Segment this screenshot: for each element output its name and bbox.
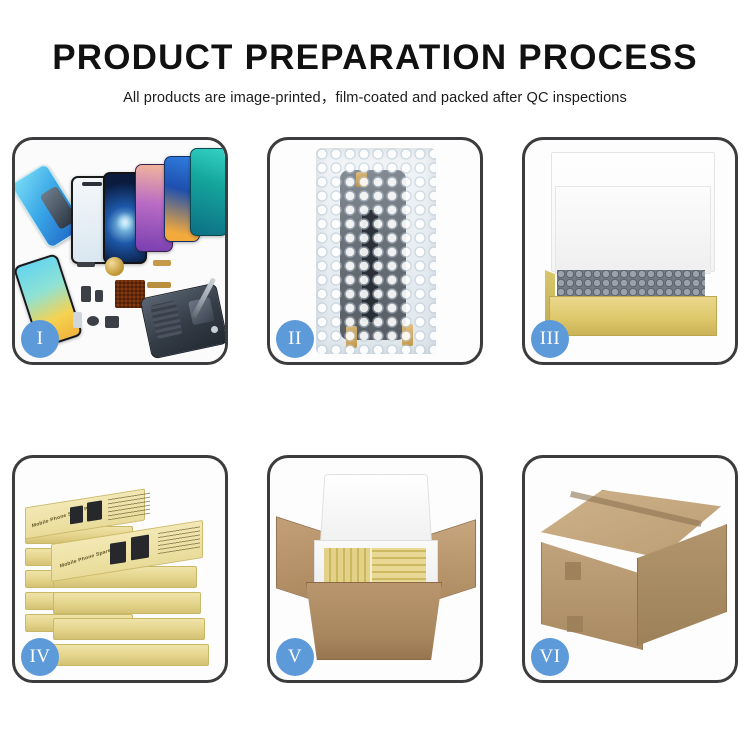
flex-cable-part-icon bbox=[77, 262, 95, 267]
sim-tray-part-icon bbox=[73, 312, 82, 328]
small-component-icon bbox=[95, 290, 103, 302]
step-badge-1: I bbox=[21, 320, 59, 358]
camera-module-part-icon bbox=[87, 316, 99, 326]
box-print-phone-icon bbox=[110, 541, 126, 565]
page-subtitle: All products are image-printed，film-coat… bbox=[0, 86, 750, 107]
small-component-icon bbox=[81, 286, 91, 302]
stacked-box bbox=[53, 644, 209, 666]
box-print-specs bbox=[158, 525, 200, 554]
box-print-phone-icon bbox=[87, 500, 102, 521]
box-print-phone-icon bbox=[70, 505, 83, 524]
white-foam-sheet-icon bbox=[555, 186, 711, 274]
speaker-coil-part-icon bbox=[105, 257, 124, 276]
ribbon-cable-part-icon bbox=[147, 282, 171, 288]
carton-body-icon bbox=[306, 582, 442, 660]
box-print-phone-icon bbox=[131, 535, 149, 561]
step-badge-3: III bbox=[531, 320, 569, 358]
bubble-padding-icon bbox=[557, 270, 705, 298]
kraft-box-front-icon bbox=[549, 296, 717, 336]
stacked-box bbox=[53, 592, 201, 614]
carton-tape-icon bbox=[565, 562, 581, 580]
step-panel-3: III bbox=[522, 137, 738, 365]
step-badge-4: IV bbox=[21, 638, 59, 676]
step-badge-2: II bbox=[276, 320, 314, 358]
header: PRODUCT PREPARATION PROCESS All products… bbox=[0, 0, 750, 107]
bubble-texture bbox=[316, 148, 436, 354]
step-panel-4: Mobile Phone Spare Parts Mobile Phone Sp… bbox=[12, 455, 228, 683]
box-print-specs bbox=[108, 492, 150, 521]
phone-screen-teal-icon bbox=[190, 148, 225, 236]
step-panel-1: I bbox=[12, 137, 228, 365]
step-badge-5: V bbox=[276, 638, 314, 676]
step-panel-6: VI bbox=[522, 455, 738, 683]
carton-left-face-icon bbox=[541, 542, 643, 650]
stacked-box bbox=[53, 618, 205, 640]
vibrator-part-icon bbox=[105, 316, 119, 328]
step-panel-5: V bbox=[267, 455, 483, 683]
page-title: PRODUCT PREPARATION PROCESS bbox=[0, 40, 750, 77]
box-stack: Mobile Phone Spare Parts Mobile Phone Sp… bbox=[23, 480, 223, 666]
step-badge-6: VI bbox=[531, 638, 569, 676]
gold-connector-part-icon bbox=[153, 260, 171, 266]
step-panel-2: II bbox=[267, 137, 483, 365]
carton-tape-icon bbox=[567, 616, 583, 632]
bubble-wrap-bag-icon bbox=[316, 148, 436, 354]
process-steps-grid: I II III bbox=[12, 137, 738, 683]
screw-icon bbox=[211, 326, 218, 333]
